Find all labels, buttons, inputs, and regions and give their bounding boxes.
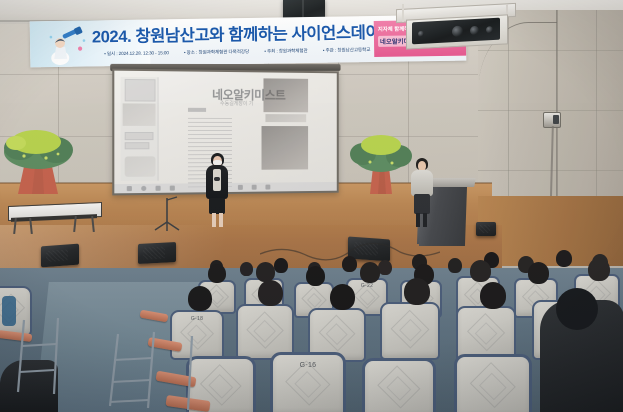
banner-sub-host: • 주최 : 창원과학체험관 — [264, 48, 307, 54]
presenter-with-microphone — [203, 153, 231, 227]
slide-thumbnail-1 — [125, 79, 156, 102]
seat-label: G-16 — [300, 362, 317, 369]
telescope-person-icon — [44, 25, 89, 66]
projector-body — [412, 18, 500, 45]
slide-thumbnail-3 — [125, 132, 154, 140]
stage-monitor-speaker-far-right — [476, 222, 496, 236]
slide-thumbnail-2 — [123, 103, 156, 125]
slide-thumbnail-4 — [125, 142, 150, 149]
folding-table — [8, 204, 100, 226]
banner-sub-organizer: • 주관 : 창원남산고등학교 — [323, 47, 371, 53]
slide-body-heading — [188, 108, 206, 112]
slide-subtitle: 수동길게장이 기 — [220, 100, 253, 107]
seat-label: G-22 — [361, 283, 373, 289]
seat-frame-legs-left — [14, 318, 104, 398]
slide-photo-bottom-right — [262, 126, 309, 170]
seat-label: G-18 — [191, 316, 203, 322]
slide-photo-top-right — [263, 78, 308, 112]
tree-mural-right — [344, 132, 418, 228]
foreground-person-right-head — [556, 288, 598, 330]
microphone-stand — [150, 196, 184, 232]
slide-photo-caption — [265, 114, 306, 122]
seat-frame-legs — [96, 330, 226, 412]
stage-monitor-speaker-center — [138, 242, 176, 264]
stage-monitor-speaker-left — [41, 244, 79, 268]
slide-thumbnail-5 — [125, 156, 156, 177]
banner-sub-place: • 장소 : 창원과학체험관 다목적강당 — [184, 49, 249, 55]
projector-arm-left — [402, 4, 404, 22]
ceiling-projector — [396, 4, 514, 52]
banner-sub-date: • 일시 : 2024.12.28. 12:30 - 15:00 — [104, 50, 169, 56]
auditorium-photo: 2024. 창원남산고와 함께하는 사이언스데이 • 일시 : 2024.12.… — [0, 0, 623, 412]
podium-speaker — [410, 158, 436, 228]
